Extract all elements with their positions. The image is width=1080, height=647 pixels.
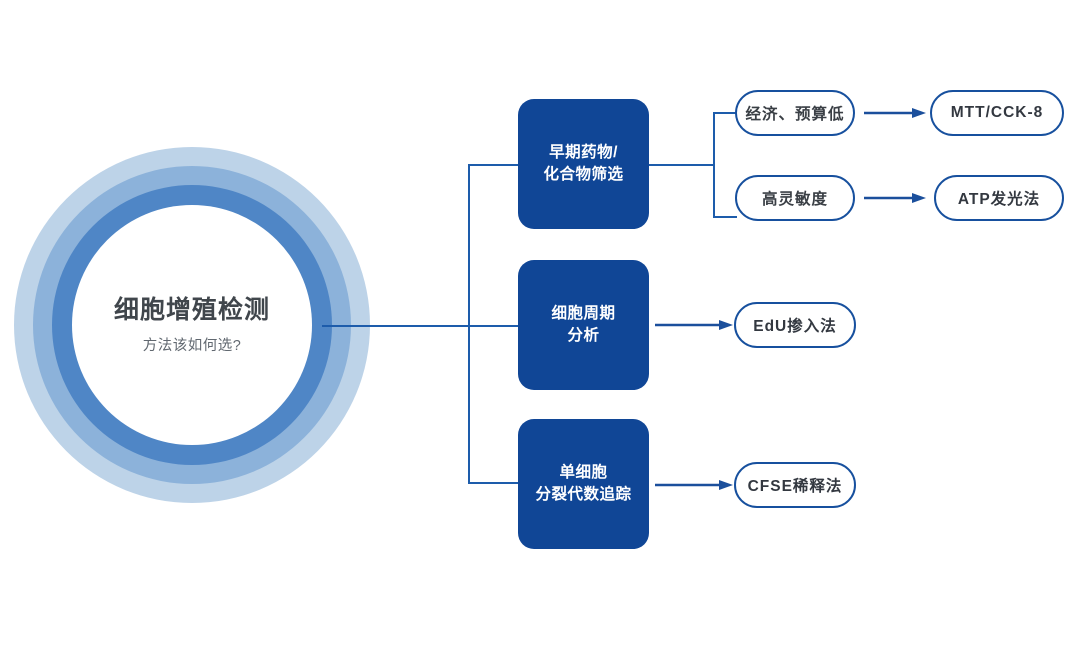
- diagram-canvas: 细胞增殖检测 方法该如何选? 早期药物/ 化合物筛选 细胞周期 分析 单细胞 分…: [0, 0, 1080, 647]
- method-pill-edu-incorporation[interactable]: EdU掺入法: [734, 302, 856, 348]
- arrow-crit0-to-method0: [864, 106, 926, 118]
- hub-subtitle: 方法该如何选?: [143, 334, 242, 355]
- criterion-pill-label: 高灵敏度: [762, 187, 828, 209]
- arrow-cat2-to-method3: [655, 478, 733, 490]
- connector-bracket-to-cat-0: [468, 164, 519, 166]
- method-pill-label: EdU掺入法: [753, 314, 837, 336]
- category-box-label: 细胞周期 分析: [551, 303, 615, 348]
- connector-bracket-spine-left: [468, 164, 470, 482]
- connector-bracket-to-cat-1: [468, 325, 519, 327]
- method-pill-mtt-cck8[interactable]: MTT/CCK-8: [930, 90, 1064, 136]
- hub-ring-inner: 细胞增殖检测 方法该如何选?: [52, 185, 332, 465]
- connector-cat0-to-crit0: [713, 112, 737, 114]
- connector-hub-to-bracket: [322, 325, 469, 327]
- category-box-drug-screening[interactable]: 早期药物/ 化合物筛选: [518, 99, 649, 229]
- category-box-single-cell[interactable]: 单细胞 分裂代数追踪: [518, 419, 649, 549]
- connector-cat0-out: [649, 164, 714, 166]
- arrow-crit1-to-method1: [864, 191, 926, 203]
- method-pill-label: MTT/CCK-8: [951, 104, 1044, 122]
- connector-cat0-to-crit1: [713, 216, 737, 218]
- criterion-pill-label: 经济、预算低: [745, 102, 844, 124]
- criterion-pill-sensitivity[interactable]: 高灵敏度: [735, 175, 855, 221]
- method-pill-label: CFSE稀释法: [748, 474, 843, 496]
- category-box-cell-cycle[interactable]: 细胞周期 分析: [518, 260, 649, 390]
- method-pill-cfse-dilution[interactable]: CFSE稀释法: [734, 462, 856, 508]
- criterion-pill-economy[interactable]: 经济、预算低: [735, 90, 855, 136]
- method-pill-atp-luminescence[interactable]: ATP发光法: [934, 175, 1064, 221]
- category-box-label: 单细胞 分裂代数追踪: [535, 462, 631, 507]
- arrow-cat1-to-method2: [655, 318, 733, 330]
- hub-ring-outer: 细胞增殖检测 方法该如何选?: [14, 147, 370, 503]
- hub-ring-mid: 细胞增殖检测 方法该如何选?: [33, 166, 351, 484]
- connector-cat0-split-spine: [713, 112, 715, 217]
- hub-core: 细胞增殖检测 方法该如何选?: [72, 205, 312, 445]
- connector-bracket-to-cat-2: [468, 482, 519, 484]
- method-pill-label: ATP发光法: [958, 187, 1040, 209]
- category-box-label: 早期药物/ 化合物筛选: [543, 142, 623, 187]
- hub-title: 细胞增殖检测: [114, 295, 270, 325]
